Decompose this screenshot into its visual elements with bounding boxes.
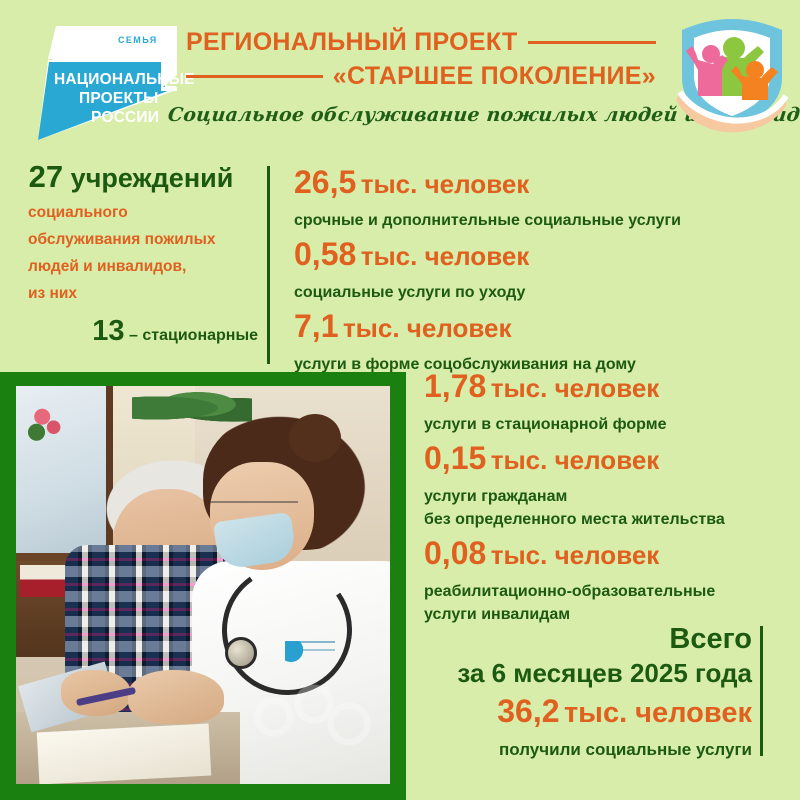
stat-value: 1,78 (424, 368, 486, 404)
total-caption: получили социальные услуги (410, 739, 752, 761)
stat-value: 0,15 (424, 440, 486, 476)
stat-value-row: 26,5 тыс. человек (294, 162, 784, 209)
photo-frame (0, 372, 406, 800)
stat-unit: тыс. человек (491, 373, 660, 403)
total-value: 36,2 (497, 693, 559, 729)
np-logo-kicker: СЕМЬЯ (118, 35, 158, 45)
divider-left (267, 166, 270, 364)
institutions-desc-line: из них (0, 280, 262, 307)
stat-unit: тыс. человек (361, 241, 530, 271)
stats-group-middle: 1,78 тыс. человек услуги в стационарной … (424, 366, 794, 628)
stat-caption: срочные и дополнительные социальные услу… (294, 209, 784, 232)
stat-item: 0,15 тыс. человек услуги гражданам без о… (424, 438, 794, 531)
stethoscope-chestpiece (225, 637, 257, 669)
header: СЕМЬЯ НАЦИОНАЛЬНЫЕ ПРОЕКТЫ РОССИИ РЕГИОН… (0, 0, 800, 152)
header-subtitle: Социальное обслуживание пожилых людей и … (167, 104, 709, 126)
stat-value: 7,1 (294, 308, 338, 344)
stat-unit: тыс. человек (491, 445, 660, 475)
institutions-block: 27 учреждений социального обслуживания п… (0, 160, 262, 351)
stat-value: 26,5 (294, 164, 356, 200)
institutions-desc-line: социального (0, 199, 262, 226)
np-logo-line-3: РОССИИ (91, 109, 159, 127)
title-rule-right (528, 41, 656, 44)
divider-right (760, 626, 763, 756)
stat-value-row: 7,1 тыс. человек (294, 306, 784, 353)
stat-unit: тыс. человек (361, 169, 530, 199)
institutions-count: 27 (29, 159, 63, 194)
social-worker-bun (289, 414, 341, 462)
stat-caption: услуги гражданам (424, 485, 794, 508)
np-logo-line-2: ПРОЕКТЫ (79, 90, 159, 108)
stationary-label: – стационарные (129, 327, 258, 344)
stat-value: 0,08 (424, 535, 486, 571)
stat-caption: социальные услуги по уходу (294, 281, 784, 304)
stat-unit: тыс. человек (343, 313, 512, 343)
shield-icon-shape (672, 8, 792, 134)
family-in-hand-shield-icon (672, 8, 792, 134)
institutions-headline: 27 учреждений (0, 160, 262, 195)
title-rule-left (186, 75, 323, 78)
infographic-page: СЕМЬЯ НАЦИОНАЛЬНЫЕ ПРОЕКТЫ РОССИИ РЕГИОН… (0, 0, 800, 800)
institutions-desc-line: обслуживания пожилых (0, 226, 262, 253)
stat-unit: тыс. человек (491, 540, 660, 570)
institutions-desc-line: людей и инвалидов, (0, 253, 262, 280)
stat-value: 0,58 (294, 236, 356, 272)
total-block: Всего за 6 месяцев 2025 года 36,2 тыс. ч… (410, 622, 752, 761)
stat-caption-second-line: без определенного места жительства (424, 508, 794, 531)
total-value-row: 36,2 тыс. человек (410, 690, 752, 739)
title-line-1-row: РЕГИОНАЛЬНЫЙ ПРОЕКТ (186, 28, 656, 56)
title-line-2-row: «СТАРШЕЕ ПОКОЛЕНИЕ» (186, 62, 656, 90)
stat-caption: реабилитационно-образовательные (424, 580, 794, 603)
stats-group-top: 26,5 тыс. человек срочные и дополнительн… (294, 162, 784, 378)
stationary-count: 13 (92, 315, 124, 347)
stat-caption: услуги в стационарной форме (424, 413, 794, 436)
photo-papers (37, 724, 212, 784)
stationary-institutions-row: 13 – стационарные (0, 316, 262, 351)
stat-item: 0,58 тыс. человек социальные услуги по у… (294, 234, 784, 304)
institutions-count-label: учреждений (71, 163, 234, 193)
stat-value-row: 0,58 тыс. человек (294, 234, 784, 281)
stat-item: 26,5 тыс. человек срочные и дополнительн… (294, 162, 784, 232)
project-title-line-1: РЕГИОНАЛЬНЫЙ ПРОЕКТ (186, 28, 518, 56)
stat-value-row: 1,78 тыс. человек (424, 366, 794, 413)
project-title-line-2: «СТАРШЕЕ ПОКОЛЕНИЕ» (333, 62, 656, 90)
stat-item: 1,78 тыс. человек услуги в стационарной … (424, 366, 794, 436)
social-worker-hand (128, 670, 224, 724)
stat-value-row: 0,15 тыс. человек (424, 438, 794, 485)
total-unit: тыс. человек (564, 697, 752, 729)
total-period: за 6 месяцев 2025 года (410, 656, 752, 690)
social-worker-with-elderly-woman-photo (16, 386, 390, 784)
total-word: Всего (410, 622, 752, 656)
np-logo-line-1: НАЦИОНАЛЬНЫЕ (54, 71, 195, 89)
photo-plant (132, 390, 252, 426)
photo-flower (27, 402, 65, 444)
national-projects-logo: СЕМЬЯ НАЦИОНАЛЬНЫЕ ПРОЕКТЫ РОССИИ (36, 14, 184, 142)
photo-watermark (245, 674, 375, 760)
stat-item: 0,08 тыс. человек реабилитационно-образо… (424, 533, 794, 626)
stat-value-row: 0,08 тыс. человек (424, 533, 794, 580)
coat-emblem (285, 641, 335, 663)
